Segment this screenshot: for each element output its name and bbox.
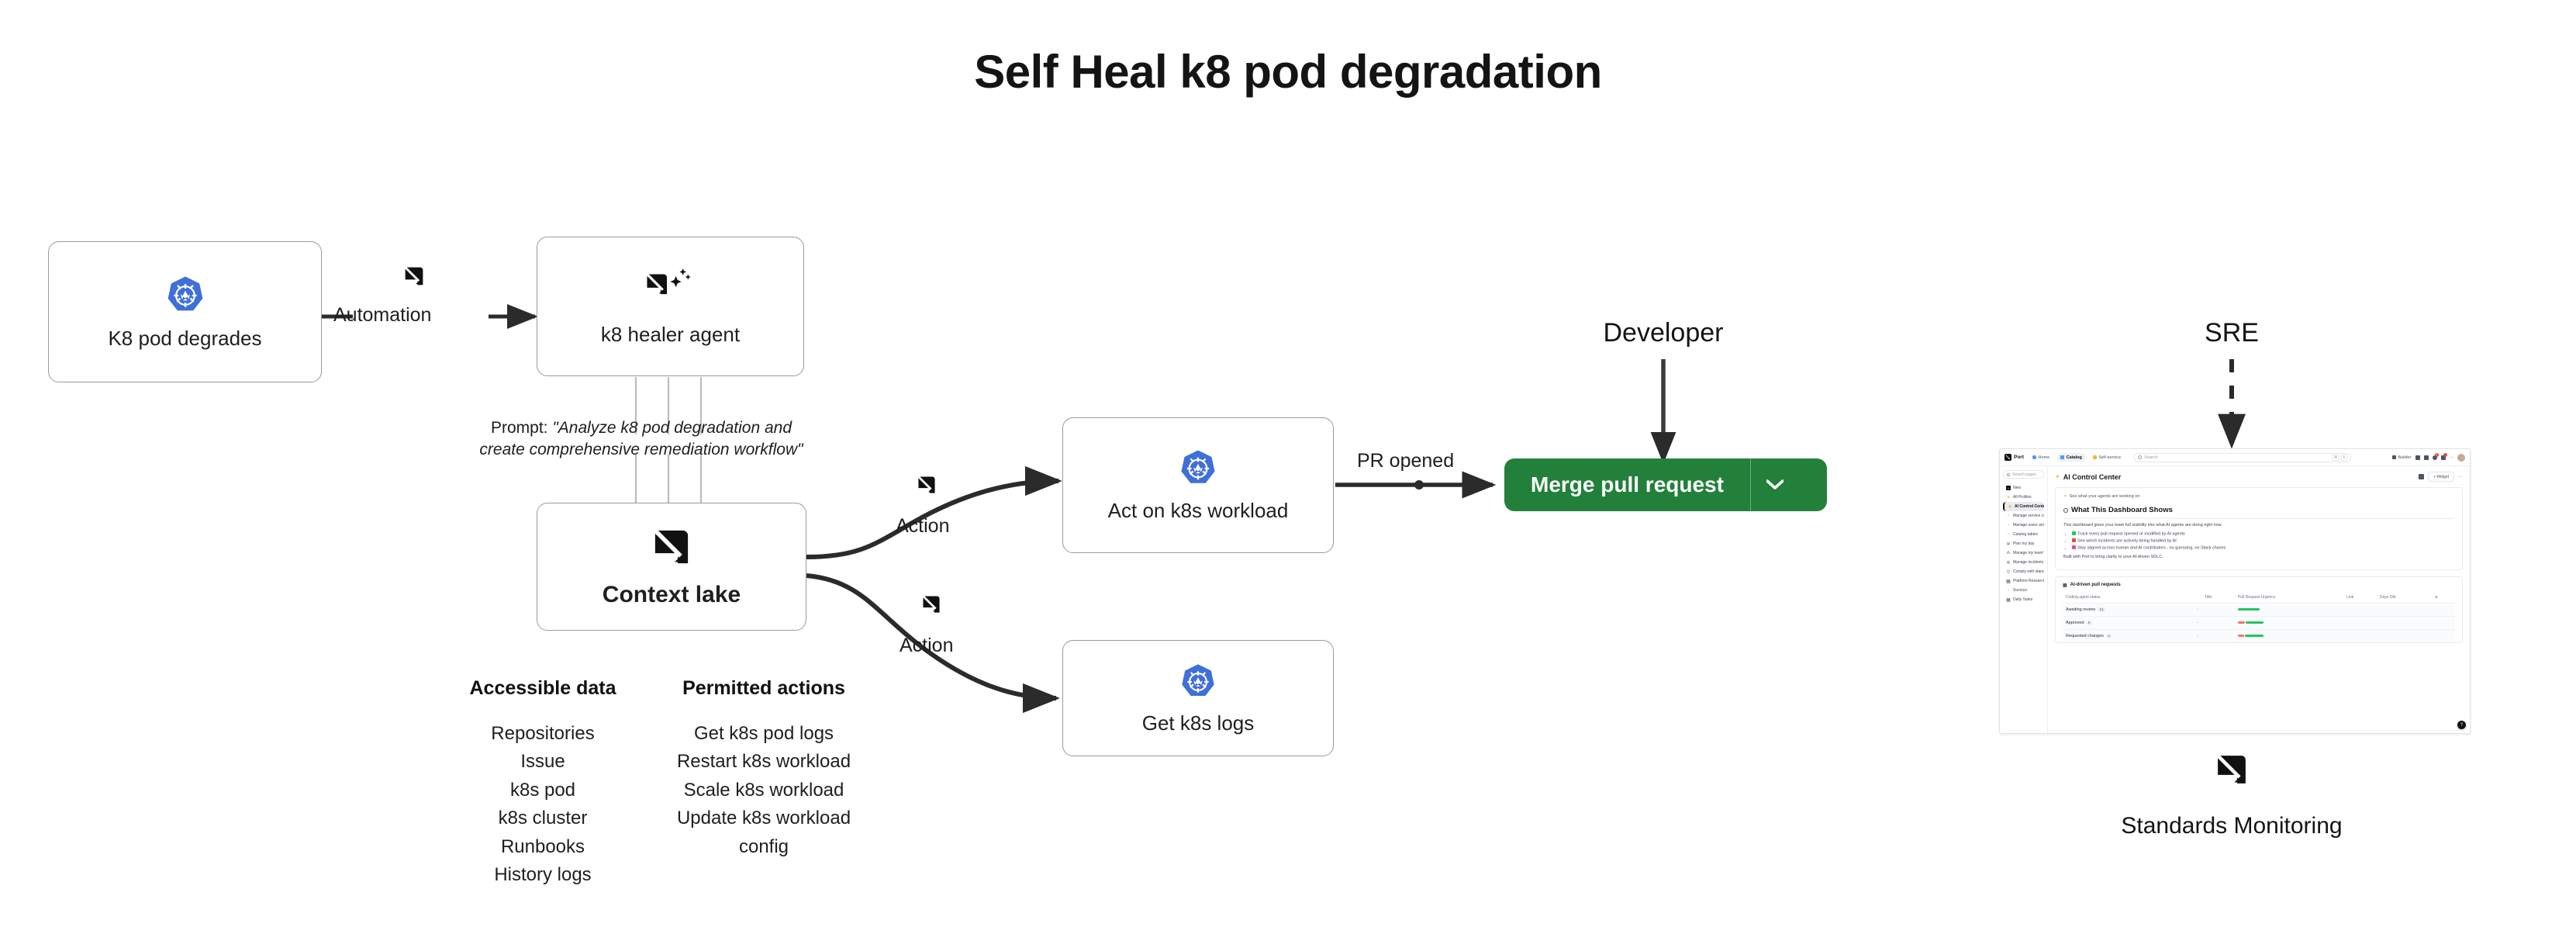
table-row[interactable]: Awaiting review 13 ›	[2063, 603, 2455, 616]
merge-pull-request-label[interactable]: Merge pull request	[1504, 458, 1751, 511]
list-item: Issue	[465, 748, 620, 776]
accessible-data-column: Accessible data Repositories Issue k8s p…	[465, 677, 620, 890]
cell-link	[2343, 629, 2377, 642]
cell-status: Approved 6 ›	[2063, 616, 2201, 629]
chevron-right-icon[interactable]: ›	[2197, 634, 2198, 638]
table-icon: ▦	[2063, 583, 2067, 588]
sparkle-icon: ✦	[2063, 494, 2067, 499]
bug-icon[interactable]: 2	[2433, 455, 2437, 460]
shortcut-key: ⌘	[2333, 455, 2340, 461]
status-label: Requested changes	[2066, 634, 2104, 638]
add-widget-button[interactable]: + Widget	[2428, 472, 2454, 482]
list-item: History logs	[465, 861, 620, 889]
cell-extra	[2432, 616, 2455, 629]
node-get-k8s-logs[interactable]: Get k8s logs	[1062, 640, 1334, 756]
table-header-row: Coding agent status Title Pull Request U…	[2063, 593, 2455, 604]
sidebar-item-catalog-tables[interactable]: › Catalog tables	[2003, 530, 2044, 539]
column-header[interactable]: Title	[2201, 593, 2235, 604]
dashboard-nav: Home Catalog Self-service	[2029, 453, 2124, 462]
compass-icon: ✲	[2006, 541, 2011, 546]
chevron-right-icon[interactable]: ›	[2197, 607, 2198, 612]
shield-icon: ⚲	[2006, 569, 2011, 574]
search-icon	[2007, 473, 2010, 476]
port-brand-label: Port	[2014, 455, 2024, 460]
actor-sre: SRE	[2154, 318, 2309, 348]
edge-label-pr-opened: PR opened	[1357, 450, 1454, 472]
node-k8-pod-degrades[interactable]: K8 pod degrades	[48, 241, 322, 382]
node-label: Context lake	[603, 582, 741, 607]
cell-urgency	[2235, 629, 2343, 642]
bell-icon[interactable]	[2441, 455, 2446, 460]
cell-urgency	[2235, 616, 2343, 629]
port-logo-icon	[403, 265, 425, 291]
sidebar-item-manage-users-and-teams[interactable]: › Manage users and teams	[2003, 521, 2044, 530]
cell-title	[2201, 603, 2235, 616]
card-heading-text: What This Dashboard Shows	[2071, 506, 2173, 514]
sidebar-item-ai-control-center[interactable]: ✦ AI Control Center	[2003, 502, 2044, 511]
dashboard-page-header: ✦ AI Control Center + Widget ···	[2055, 472, 2463, 482]
list-item: Repositories	[465, 720, 620, 748]
dashboard-main: ✦ AI Control Center + Widget ··· ✦ See w…	[2048, 466, 2470, 733]
sidebar-label: All Profiles	[2013, 495, 2032, 500]
node-label: k8 healer agent	[601, 323, 740, 346]
node-context-lake[interactable]: Context lake	[537, 503, 806, 631]
card-intro: This dashboard gives your team full visi…	[2063, 523, 2454, 528]
chevron-right-icon: ›	[2006, 588, 2011, 593]
page-title: Self Heal k8 pod degradation	[0, 45, 2576, 99]
sidebar-label: Catalog tables	[2013, 532, 2038, 537]
table-title-row: ▦ AI-driven pull requests	[2063, 583, 2455, 588]
shortcut-key: K	[2341, 455, 2347, 461]
dashboard-table-card: ▦ AI-driven pull requests Coding agent s…	[2055, 576, 2463, 643]
sidebar-label: Manage my team's w...	[2013, 551, 2044, 555]
sidebar-label: Manage service catalog	[2013, 514, 2044, 518]
list-item: Track every pull request opened or modif…	[2072, 531, 2454, 537]
node-k8-healer-agent[interactable]: k8 healer agent	[537, 237, 804, 376]
dashboard-info-card: ✦ See what your agents are working on Wh…	[2055, 487, 2463, 570]
list-item: Get k8s pod logs	[667, 720, 861, 748]
dashboard-sidebar: Search pages + New ✦ All Profiles ✦ AI C…	[2000, 466, 2048, 733]
plus-square-icon: +	[2006, 486, 2011, 490]
add-column-button[interactable]: +	[2432, 593, 2455, 604]
port-logo-icon	[2215, 752, 2249, 790]
nav-item-catalog[interactable]: Catalog	[2057, 453, 2085, 462]
port-agent-sparkle-icon	[645, 267, 696, 311]
docs-icon[interactable]	[2424, 455, 2429, 460]
ai-pull-requests-table: Coding agent status Title Pull Request U…	[2063, 593, 2455, 642]
sidebar-item-manage-incidents[interactable]: ✲ Manage incidents	[2003, 558, 2044, 567]
nav-item-home[interactable]: Home	[2029, 453, 2053, 462]
card-bullet-list: Track every pull request opened or modif…	[2063, 531, 2454, 551]
sidebar-item-platform-research-dashboard[interactable]: ▦ Platform Research Das...	[2003, 576, 2044, 586]
edge-label-action-top: Action	[896, 515, 949, 538]
kubernetes-icon	[1179, 662, 1217, 701]
diagram-canvas: Self Heal k8 pod degradation	[0, 0, 2576, 934]
notification-dot	[2443, 453, 2447, 457]
sidebar-search-placeholder: Search pages	[2012, 472, 2036, 477]
bolt-icon	[2093, 455, 2097, 459]
sparkle-icon: ✦	[2008, 504, 2012, 509]
more-icon[interactable]: ···	[2450, 455, 2454, 460]
status-chip	[2072, 538, 2076, 542]
port-logo-icon	[2005, 454, 2011, 461]
list-item: Runbooks	[465, 833, 620, 861]
nav-label: Home	[2039, 455, 2050, 460]
status-count: 4	[2106, 634, 2112, 638]
table-row[interactable]: Requested changes 4 ›	[2063, 629, 2455, 642]
chevron-down-icon[interactable]	[1751, 458, 1799, 511]
column-header[interactable]: Days Old	[2377, 593, 2432, 604]
card-heading: What This Dashboard Shows	[2063, 506, 2454, 519]
question-icon[interactable]: ?	[2457, 721, 2466, 729]
list-item: Restart k8s workload	[667, 748, 861, 776]
card-footer: Built with Port to bring clarity to your…	[2063, 555, 2454, 559]
dashboard-topnav: Port Home Catalog Self-service Search	[2000, 449, 2470, 466]
sparkle-icon: ✦	[2006, 495, 2011, 500]
node-label: Get k8s logs	[1142, 712, 1255, 735]
dashboard-topnav-actions: Builder 2 ···	[2392, 454, 2465, 462]
sidebar-label: Plan my day	[2013, 541, 2035, 546]
status-chip	[2072, 545, 2076, 549]
kubernetes-icon	[164, 275, 206, 317]
sidebar-item-comply-with-standards[interactable]: ⚲ Comply with standar...	[2003, 567, 2044, 576]
prompt-text: Prompt: "Analyze k8 pod degradation and …	[475, 417, 808, 462]
builder-icon	[2392, 455, 2396, 459]
list-item: k8s cluster	[465, 804, 620, 832]
search-shortcut: ⌘ K	[2333, 455, 2348, 461]
cell-days-old	[2377, 603, 2432, 616]
permitted-actions-column: Permitted actions Get k8s pod logs Resta…	[667, 677, 861, 861]
sparkle-icon: ✦	[2055, 473, 2060, 480]
cell-extra	[2432, 629, 2455, 642]
sidebar-item-daily-tasks[interactable]: ▦ Daily Tasks	[2003, 595, 2044, 604]
sidebar-item-all-profiles[interactable]: ✦ All Profiles	[2003, 493, 2044, 502]
cell-status: Requested changes 4 ›	[2063, 629, 2201, 642]
avatar[interactable]	[2457, 454, 2465, 462]
status-count: 13	[2098, 607, 2105, 612]
status-chip	[2072, 531, 2076, 535]
column-header[interactable]: Pull Request Urgency	[2235, 593, 2343, 604]
cell-link	[2343, 616, 2377, 629]
port-logo-icon	[921, 594, 941, 618]
column-heading: Accessible data	[465, 677, 620, 700]
sidebar-item-manage-my-teams-work[interactable]: ⁂ Manage my team's w...	[2003, 548, 2044, 558]
bullet-text: Track every pull request opened or modif…	[2077, 532, 2185, 537]
sidebar-label: New	[2013, 486, 2021, 490]
dashboard-search-input[interactable]: Search ⌘ K	[2134, 453, 2351, 462]
node-label: K8 pod degrades	[108, 327, 261, 350]
node-act-on-k8s-workload[interactable]: Act on k8s workload	[1062, 417, 1334, 553]
edge-label-automation: Automation	[333, 304, 431, 327]
sidebar-label: Manage incidents	[2013, 560, 2043, 565]
sidebar-item-new[interactable]: + New	[2003, 483, 2044, 493]
list-item: Update k8s workload config	[667, 804, 861, 861]
nav-label: Catalog	[2067, 455, 2082, 460]
cell-status: Awaiting review 13 ›	[2063, 603, 2201, 616]
search-placeholder: Search	[2144, 455, 2157, 460]
search-icon	[2138, 455, 2142, 459]
grid-icon: ▦	[2006, 597, 2011, 602]
incident-icon: ✲	[2006, 560, 2011, 565]
chevron-right-icon: ›	[2006, 523, 2011, 528]
list-item: See which incidents are actively being h…	[2072, 538, 2454, 544]
port-brand[interactable]: Port	[2005, 454, 2024, 461]
share-icon[interactable]	[2419, 474, 2424, 479]
list-item: Scale k8s workload	[667, 777, 861, 804]
team-icon: ⁂	[2006, 551, 2011, 555]
standards-monitoring-caption: Standards Monitoring	[2077, 813, 2387, 839]
cell-link	[2343, 603, 2377, 616]
builder-button[interactable]: Builder	[2392, 455, 2411, 460]
sidebar-item-manage-service-catalog[interactable]: › Manage service catalog	[2003, 511, 2044, 521]
sidebar-label: Manage users and teams	[2013, 523, 2044, 528]
home-icon	[2032, 455, 2036, 459]
notification-badge: 2	[2435, 453, 2439, 457]
sidebar-label: Comply with standar...	[2013, 569, 2044, 574]
chevron-right-icon: ›	[2006, 514, 2011, 518]
node-label: Act on k8s workload	[1108, 500, 1289, 522]
catalog-icon	[2060, 455, 2064, 459]
sidebar-label: Daily Tasks	[2013, 597, 2032, 602]
status-label: Approved	[2066, 621, 2084, 625]
bullet-text: Stay aligned across human and AI contrib…	[2077, 546, 2226, 551]
dashboard-subtitle-row: ✦ See what your agents are working on	[2063, 494, 2454, 499]
sidebar-label: AI Control Center	[2015, 504, 2044, 509]
cell-urgency	[2235, 603, 2343, 616]
status-label: Awaiting review	[2066, 607, 2095, 612]
bullet-text: See which incidents are actively being h…	[2077, 539, 2177, 544]
status-count: 6	[2087, 621, 2092, 625]
port-logo-icon	[917, 475, 937, 499]
prompt-prefix: Prompt:	[491, 419, 552, 437]
cell-title	[2201, 616, 2235, 629]
table-row[interactable]: Approved 6 ›	[2063, 616, 2455, 629]
sidebar-item-surveys[interactable]: › Surveys	[2003, 586, 2044, 595]
dashboard-subtitle: See what your agents are working on	[2070, 494, 2140, 499]
nav-item-self-service[interactable]: Self-service	[2090, 453, 2124, 462]
search-icon	[2063, 508, 2068, 513]
dashboard-page-title: AI Control Center	[2063, 473, 2122, 481]
list-item: Stay aligned across human and AI contrib…	[2072, 545, 2454, 551]
cell-days-old	[2377, 629, 2432, 642]
column-header[interactable]: Link	[2343, 593, 2377, 604]
table-title: AI-driven pull requests	[2070, 583, 2121, 587]
cell-extra	[2432, 603, 2455, 616]
cell-days-old	[2377, 616, 2432, 629]
builder-label: Builder	[2398, 455, 2411, 460]
column-heading: Permitted actions	[667, 677, 861, 700]
kubernetes-icon	[1178, 448, 1218, 489]
column-header[interactable]: Coding agent status	[2063, 593, 2201, 604]
sidebar-item-plan-my-day[interactable]: ✲ Plan my day	[2003, 539, 2044, 548]
merge-pull-request-button[interactable]: Merge pull request	[1504, 458, 1827, 511]
sidebar-label: Platform Research Das...	[2013, 579, 2044, 583]
sidebar-search-input[interactable]: Search pages	[2003, 470, 2044, 479]
actor-developer: Developer	[1586, 318, 1741, 348]
port-logo-icon	[651, 527, 692, 571]
chevron-right-icon: ›	[2006, 532, 2011, 537]
list-item: k8s pod	[465, 777, 620, 804]
chevron-right-icon[interactable]: ›	[2197, 621, 2198, 625]
port-dashboard-screenshot[interactable]: Port Home Catalog Self-service Search	[1999, 448, 2471, 734]
nav-label: Self-service	[2098, 455, 2121, 460]
grid-icon: ▦	[2006, 579, 2011, 583]
cell-title	[2201, 629, 2235, 642]
more-icon[interactable]: ···	[2458, 475, 2463, 479]
invite-icon[interactable]	[2415, 455, 2420, 460]
sidebar-label: Surveys	[2013, 588, 2027, 593]
edge-label-action-bottom: Action	[900, 635, 953, 657]
